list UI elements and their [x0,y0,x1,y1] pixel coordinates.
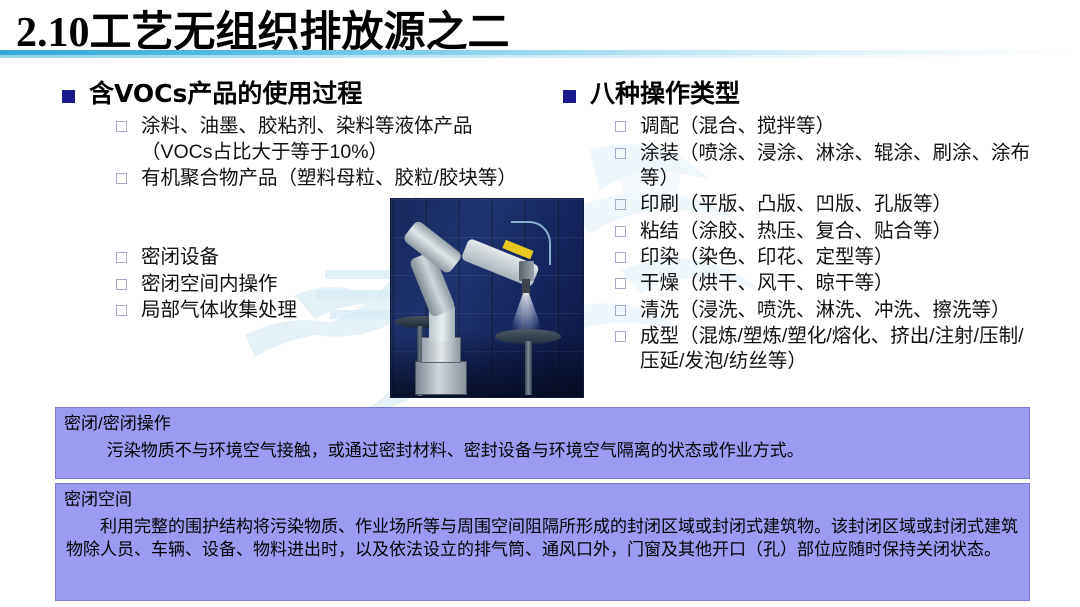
definition-box-title: 密闭/密闭操作 [56,408,1029,434]
list-item-label: 印染（染色、印花、定型等） [640,245,1033,270]
right-column-heading: 八种操作类型 [590,78,740,109]
list-item: 印染（染色、印花、定型等） [615,245,1033,270]
list-item: 干燥（烘干、风干、晾干等） [615,271,1033,296]
list-item-label: 印刷（平版、凸版、凹版、孔版等） [640,192,1033,217]
list-item: 涂装（喷涂、浸涂、淋涂、辊涂、刷涂、涂布等） [615,141,1033,192]
list-item: 印刷（平版、凸版、凹版、孔版等） [615,192,1033,217]
hollow-square-bullet-icon [116,252,127,263]
list-item-label: 涂装（喷涂、浸涂、淋涂、辊涂、刷涂、涂布等） [640,141,1033,192]
robot-base [415,361,467,395]
list-item-label: 有机聚合物产品（塑料母粒、胶粒/胶块等） [141,166,532,191]
hollow-square-bullet-icon [615,148,626,159]
hollow-square-bullet-icon [615,278,626,289]
spray-gun-icon [522,279,530,295]
hollow-square-bullet-icon [615,305,626,316]
left-column-heading: 含VOCs产品的使用过程 [89,78,362,109]
spray-robot-photo [390,198,584,398]
hollow-square-bullet-icon [116,173,127,184]
right-column-heading-row: 八种操作类型 [563,78,1033,109]
list-item: 成型（混炼/塑炼/塑化/熔化、挤出/注射/压制/压延/发泡/纺丝等） [615,324,1033,375]
hollow-square-bullet-icon [116,121,127,132]
definition-box-body: 利用完整的围护结构将污染物质、作业场所等与周围空间阻隔所形成的封闭区域或封闭式建… [56,510,1029,562]
title-divider-secondary [0,55,1080,58]
definition-box-body: 污染物质不与环境空气接触，或通过密封材料、密封设备与环境空气隔离的状态或作业方式… [56,434,1029,463]
list-item: 有机聚合物产品（塑料母粒、胶粒/胶块等） [116,166,532,191]
workpiece-stand-right [525,341,532,395]
slide-root: 2.10工艺无组织排放源之二 含VOCs产品的使用过程 涂料、油墨、胶粘剂、染料… [0,0,1080,607]
robot-wrist [519,261,534,281]
list-item: 清洗（浸洗、喷洗、淋洗、冲洗、擦洗等） [615,298,1033,323]
list-item-label: 涂料、油墨、胶粘剂、染料等液体产品（VOCs占比大于等于10%） [141,114,532,165]
hollow-square-bullet-icon [615,226,626,237]
list-item-label: 成型（混炼/塑炼/塑化/熔化、挤出/注射/压制/压延/发泡/纺丝等） [640,324,1033,375]
definition-box-title: 密闭空间 [56,484,1029,510]
list-item-label: 干燥（烘干、风干、晾干等） [640,271,1033,296]
square-bullet-icon [62,90,75,103]
left-column-list-group1: 涂料、油墨、胶粘剂、染料等液体产品（VOCs占比大于等于10%） 有机聚合物产品… [116,114,532,191]
hollow-square-bullet-icon [116,305,127,316]
list-item-label: 清洗（浸洗、喷洗、淋洗、冲洗、擦洗等） [640,298,1033,323]
square-bullet-icon [563,90,576,103]
left-column-heading-row: 含VOCs产品的使用过程 [62,78,532,109]
hollow-square-bullet-icon [116,279,127,290]
list-item: 粘结（涂胶、热压、复合、贴合等） [615,219,1033,244]
list-item: 涂料、油墨、胶粘剂、染料等液体产品（VOCs占比大于等于10%） [116,114,532,165]
definition-box-closed-space: 密闭空间 利用完整的围护结构将污染物质、作业场所等与周围空间阻隔所形成的封闭区域… [55,483,1030,601]
right-column: 八种操作类型 调配（混合、搅拌等） 涂装（喷涂、浸涂、淋涂、辊涂、刷涂、涂布等）… [563,78,1033,376]
hollow-square-bullet-icon [615,252,626,263]
list-item: 调配（混合、搅拌等） [615,114,1033,139]
hollow-square-bullet-icon [615,331,626,342]
definition-box-closed-operation: 密闭/密闭操作 污染物质不与环境空气接触，或通过密封材料、密封设备与环境空气隔离… [55,407,1030,479]
slide-header: 2.10工艺无组织排放源之二 [0,0,1080,58]
hollow-square-bullet-icon [615,199,626,210]
list-item-label: 粘结（涂胶、热压、复合、贴合等） [640,219,1033,244]
right-column-list: 调配（混合、搅拌等） 涂装（喷涂、浸涂、淋涂、辊涂、刷涂、涂布等） 印刷（平版、… [615,114,1033,374]
hollow-square-bullet-icon [615,121,626,132]
list-item-label: 调配（混合、搅拌等） [640,114,1033,139]
